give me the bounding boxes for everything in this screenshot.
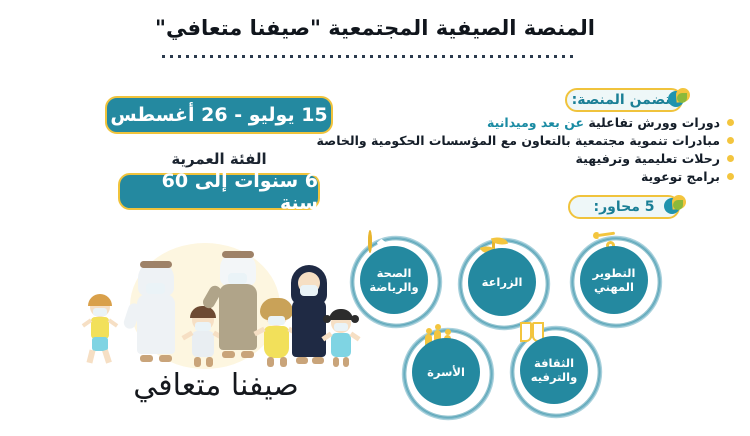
list-item: رحلات تعليمية وترفيهية xyxy=(304,150,734,167)
bullet-dot-icon xyxy=(727,155,734,162)
figure-child-left xyxy=(80,297,122,363)
list-item-text: دورات وورش تفاعلية عن بعد وميدانية xyxy=(487,115,720,130)
bullet-dot-icon xyxy=(727,173,734,180)
theme-label: التطوير المهني xyxy=(580,266,648,294)
theme-circle-culture-entertainment[interactable]: الثقافة والترفيه xyxy=(512,328,596,412)
figure-adult-male-left xyxy=(128,263,184,367)
theme-disc: الثقافة والترفيه xyxy=(520,336,588,404)
age-group-label: الفئة العمرية xyxy=(118,150,320,168)
theme-label: الثقافة والترفيه xyxy=(520,356,588,384)
leaf-circle-icon-2 xyxy=(664,195,686,216)
theme-disc: الأسرة xyxy=(412,338,480,406)
list-item-text: برامج توعوية xyxy=(641,169,720,184)
list-item-text: مبادرات تنموية مجتمعية بالتعاون مع المؤس… xyxy=(317,133,720,148)
masked-family-illustration xyxy=(70,235,350,370)
bullet-dot-icon xyxy=(727,119,734,126)
includes-badge: تتضمن المنصة: xyxy=(565,88,683,112)
includes-list: دورات وورش تفاعلية عن بعد وميدانية مبادر… xyxy=(304,114,734,186)
theme-disc: التطوير المهني xyxy=(580,246,648,314)
header-area: المنصة الصيفية المجتمعية "صيفنا متعافي" xyxy=(0,14,750,42)
list-item: برامج توعوية xyxy=(304,168,734,185)
figure-child-right xyxy=(322,311,360,367)
theme-circle-professional-development[interactable]: التطوير المهني xyxy=(572,238,656,322)
theme-label: الزراعة xyxy=(478,275,527,289)
theme-circle-health-sports[interactable]: الصحة والرياضة xyxy=(352,238,436,322)
theme-circle-agriculture[interactable]: الزراعة xyxy=(460,240,544,324)
title-divider xyxy=(162,55,574,58)
date-range-pill: 15 يوليو - 26 أغسطس xyxy=(105,96,333,134)
theme-label: الأسرة xyxy=(423,365,469,379)
list-item-text: رحلات تعليمية وترفيهية xyxy=(576,151,720,166)
brand-logo-text: صيفنا متعافي xyxy=(96,368,336,403)
theme-disc: الصحة والرياضة xyxy=(360,246,428,314)
leaf-circle-icon xyxy=(668,88,690,109)
infographic-canvas: المنصة الصيفية المجتمعية "صيفنا متعافي" … xyxy=(0,0,750,430)
list-item: دورات وورش تفاعلية عن بعد وميدانية xyxy=(304,114,734,131)
page-title: المنصة الصيفية المجتمعية "صيفنا متعافي" xyxy=(0,14,750,42)
theme-disc: الزراعة xyxy=(468,248,536,316)
age-range-pill: 6 سنوات إلى 60 سنة xyxy=(118,173,320,210)
theme-label: الصحة والرياضة xyxy=(360,266,428,294)
list-item: مبادرات تنموية مجتمعية بالتعاون مع المؤس… xyxy=(304,132,734,149)
bullet-dot-icon xyxy=(727,137,734,144)
theme-circle-family[interactable]: الأسرة xyxy=(404,330,488,414)
